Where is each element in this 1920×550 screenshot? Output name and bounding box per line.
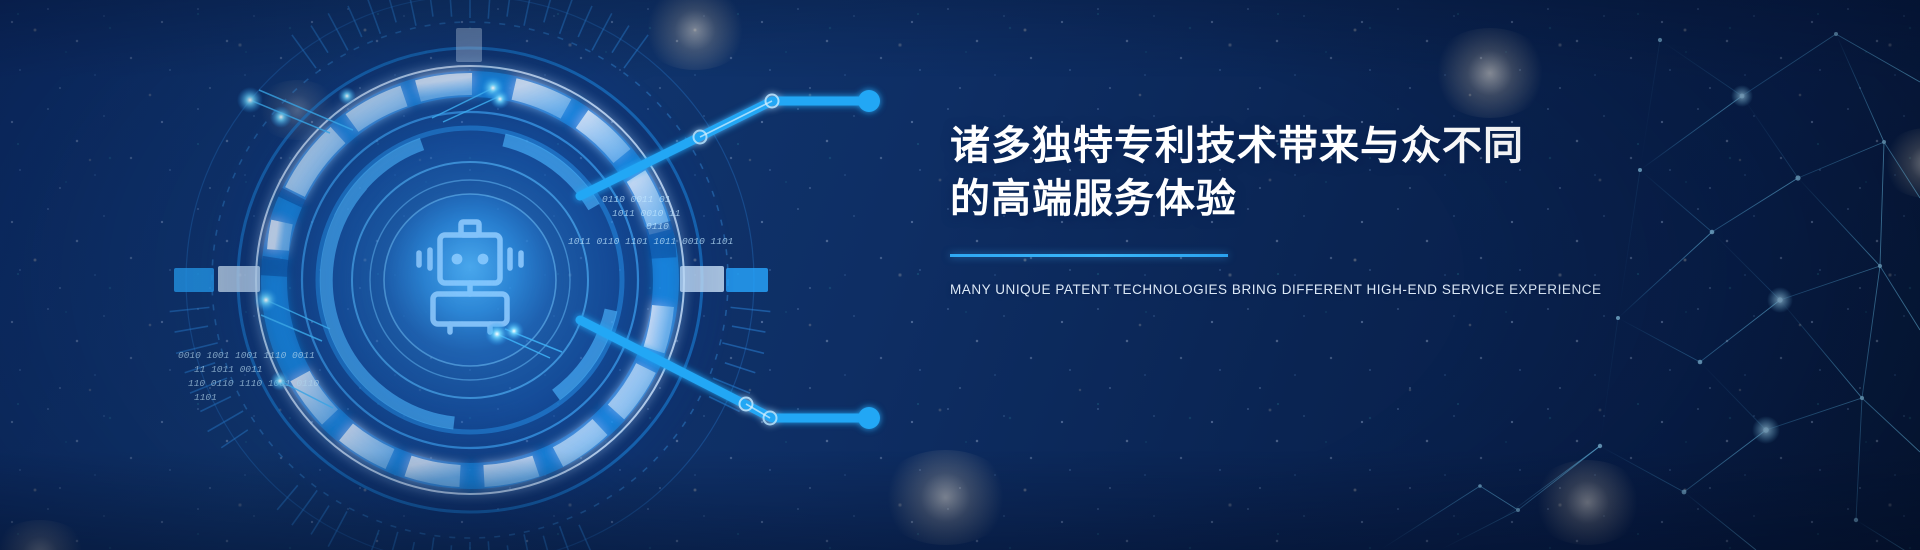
node-lower [858,407,880,429]
spark-strands [250,88,562,408]
headline-line-1: 诸多独特专利技术带来与众不同 [950,124,1524,168]
spark-nodes [237,76,524,391]
title-divider [950,254,1228,257]
connector-upper-right [580,90,880,196]
page-subtitle: MANY UNIQUE PATENT TECHNOLOGIES BRING DI… [950,282,1602,297]
page-title: 诸多独特专利技术带来与众不同的高端服务体验 [950,120,1602,226]
hero-banner: 0110 0011 01 1011 0010 11 0110 1011 0110… [0,0,1920,550]
headline-line-2: 的高端服务体验 [950,177,1237,221]
node-upper [858,90,880,112]
connector-lower-right [580,320,880,429]
banner-text-block: 诸多独特专利技术带来与众不同的高端服务体验 MANY UNIQUE PATENT… [950,120,1602,297]
